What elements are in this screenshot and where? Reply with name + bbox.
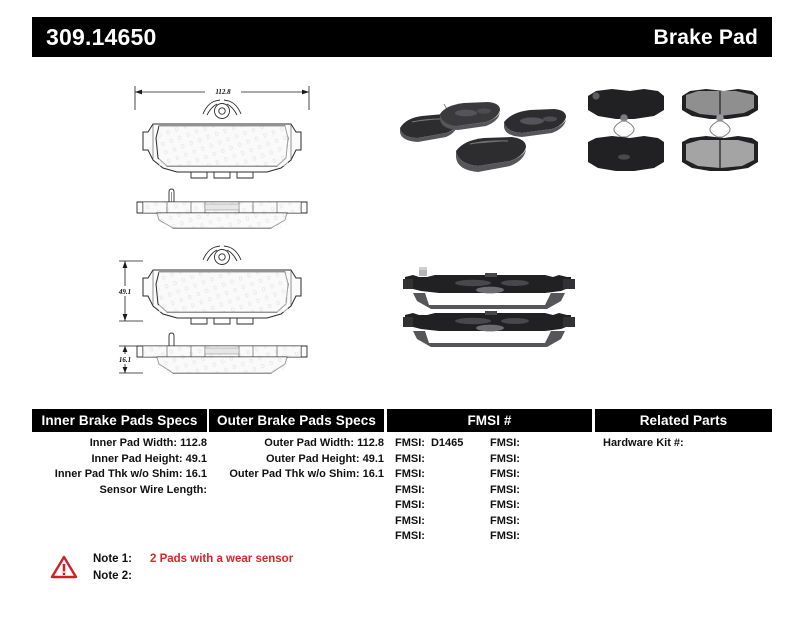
spec-label: Inner Pad Thk w/o Shim: <box>55 468 183 480</box>
specifications-table: Inner Brake Pads Specs Outer Brake Pads … <box>32 409 772 539</box>
fmsi-cell: FMSI:D1465 <box>387 436 482 452</box>
note-row-1: Note 1: 2 Pads with a wear sensor <box>93 551 293 568</box>
warning-triangle-icon <box>51 555 77 579</box>
inner-specs-body: Inner Pad Width: 112.8 Inner Pad Height:… <box>32 436 207 498</box>
spec-value: 16.1 <box>186 468 207 480</box>
fmsi-cell: FMSI: <box>387 483 482 499</box>
width-dimension-label: 112.8 <box>215 88 231 96</box>
drawing-inner-pad-edge <box>137 189 307 228</box>
related-part-row: Hardware Kit #: <box>603 436 772 452</box>
brake-pad-edge-pair-photo <box>395 253 595 363</box>
fmsi-cell: FMSI: <box>387 452 482 468</box>
fmsi-label: FMSI: <box>490 515 520 527</box>
fmsi-grid: FMSI:D1465 FMSI: FMSI: FMSI: FMSI: FMSI:… <box>387 436 592 545</box>
fmsi-cell: FMSI: <box>482 483 592 499</box>
fmsi-label: FMSI: <box>395 499 425 511</box>
brake-pad-pairs-top-photo <box>578 78 768 188</box>
figures-region: D 112.8 <box>0 60 800 395</box>
drawing-outer-pad-face: 49.1 <box>111 246 301 324</box>
fmsi-cell: FMSI: <box>387 498 482 514</box>
fmsi-cell: FMSI: <box>387 467 482 483</box>
spec-row: Outer Pad Height: 49.1 <box>209 452 384 468</box>
spec-label: Inner Pad Height: <box>91 453 182 465</box>
note-label: Note 1: <box>93 551 141 568</box>
technical-drawings-group: D 112.8 <box>95 68 345 393</box>
technical-drawings-svg: D 112.8 <box>95 68 345 393</box>
spec-value: 49.1 <box>186 453 207 465</box>
fmsi-label: FMSI: <box>490 530 520 542</box>
spec-value: 112.8 <box>357 437 384 449</box>
spec-label: Sensor Wire Length: <box>100 484 207 496</box>
drawing-inner-pad-face: 112.8 <box>135 86 309 178</box>
table-header-inner-specs: Inner Brake Pads Specs <box>32 409 207 432</box>
spec-value: 112.8 <box>180 437 207 449</box>
outer-specs-body: Outer Pad Width: 112.8 Outer Pad Height:… <box>209 436 384 483</box>
product-type-label: Brake Pad <box>653 27 758 48</box>
note-row-2: Note 2: <box>93 568 293 585</box>
fmsi-label: FMSI: <box>395 484 425 496</box>
fmsi-cell: FMSI: <box>482 529 592 545</box>
note-text: 2 Pads with a wear sensor <box>150 551 293 568</box>
fmsi-label: FMSI: <box>395 437 425 449</box>
spec-value: 16.1 <box>363 468 384 480</box>
spec-row: Sensor Wire Length: <box>32 483 207 499</box>
fmsi-label: FMSI: <box>490 499 520 511</box>
spec-label: Outer Pad Height: <box>266 453 360 465</box>
fmsi-label: FMSI: <box>395 453 425 465</box>
fmsi-cell: FMSI: <box>387 529 482 545</box>
spec-row: Inner Pad Height: 49.1 <box>32 452 207 468</box>
table-header-fmsi: FMSI # <box>387 409 592 432</box>
note-label: Note 2: <box>93 568 141 585</box>
brake-pad-set-angled-photo <box>392 78 577 183</box>
related-parts-body: Hardware Kit #: <box>595 436 772 452</box>
fmsi-label: FMSI: <box>490 484 520 496</box>
thickness-dimension-label: 16.1 <box>119 356 131 364</box>
table-header-outer-specs: Outer Brake Pads Specs <box>209 409 384 432</box>
fmsi-label: FMSI: <box>395 468 425 480</box>
table-header-related-parts: Related Parts <box>595 409 772 432</box>
drawing-outer-pad-edge: 16.1 <box>111 333 307 373</box>
fmsi-body: FMSI:D1465 FMSI: FMSI: FMSI: FMSI: FMSI:… <box>387 436 592 545</box>
fmsi-label: FMSI: <box>490 453 520 465</box>
note-rows: Note 1: 2 Pads with a wear sensor Note 2… <box>93 551 293 585</box>
spec-value: 49.1 <box>363 453 384 465</box>
fmsi-label: FMSI: <box>395 530 425 542</box>
spec-row: Outer Pad Thk w/o Shim: 16.1 <box>209 467 384 483</box>
fmsi-label: FMSI: <box>490 437 520 449</box>
spec-row: Inner Pad Thk w/o Shim: 16.1 <box>32 467 207 483</box>
fmsi-cell: FMSI: <box>482 467 592 483</box>
part-number: 309.14650 <box>46 26 157 49</box>
fmsi-cell: FMSI: <box>482 514 592 530</box>
spec-label: Outer Pad Width: <box>264 437 354 449</box>
related-part-label: Hardware Kit #: <box>603 437 684 449</box>
height-dimension-label: 49.1 <box>118 288 131 296</box>
spec-row: Inner Pad Width: 112.8 <box>32 436 207 452</box>
fmsi-label: FMSI: <box>395 515 425 527</box>
fmsi-cell: FMSI: <box>387 514 482 530</box>
fmsi-value: D1465 <box>431 437 463 449</box>
spec-label: Outer Pad Thk w/o Shim: <box>229 468 359 480</box>
fmsi-label: FMSI: <box>490 468 520 480</box>
fmsi-cell: FMSI: <box>482 498 592 514</box>
fmsi-cell: FMSI: <box>482 436 592 452</box>
header-bar: 309.14650 Brake Pad <box>32 17 772 57</box>
spec-label: Inner Pad Width: <box>90 437 177 449</box>
fmsi-cell: FMSI: <box>482 452 592 468</box>
notes-region: Note 1: 2 Pads with a wear sensor Note 2… <box>48 551 468 593</box>
spec-row: Outer Pad Width: 112.8 <box>209 436 384 452</box>
